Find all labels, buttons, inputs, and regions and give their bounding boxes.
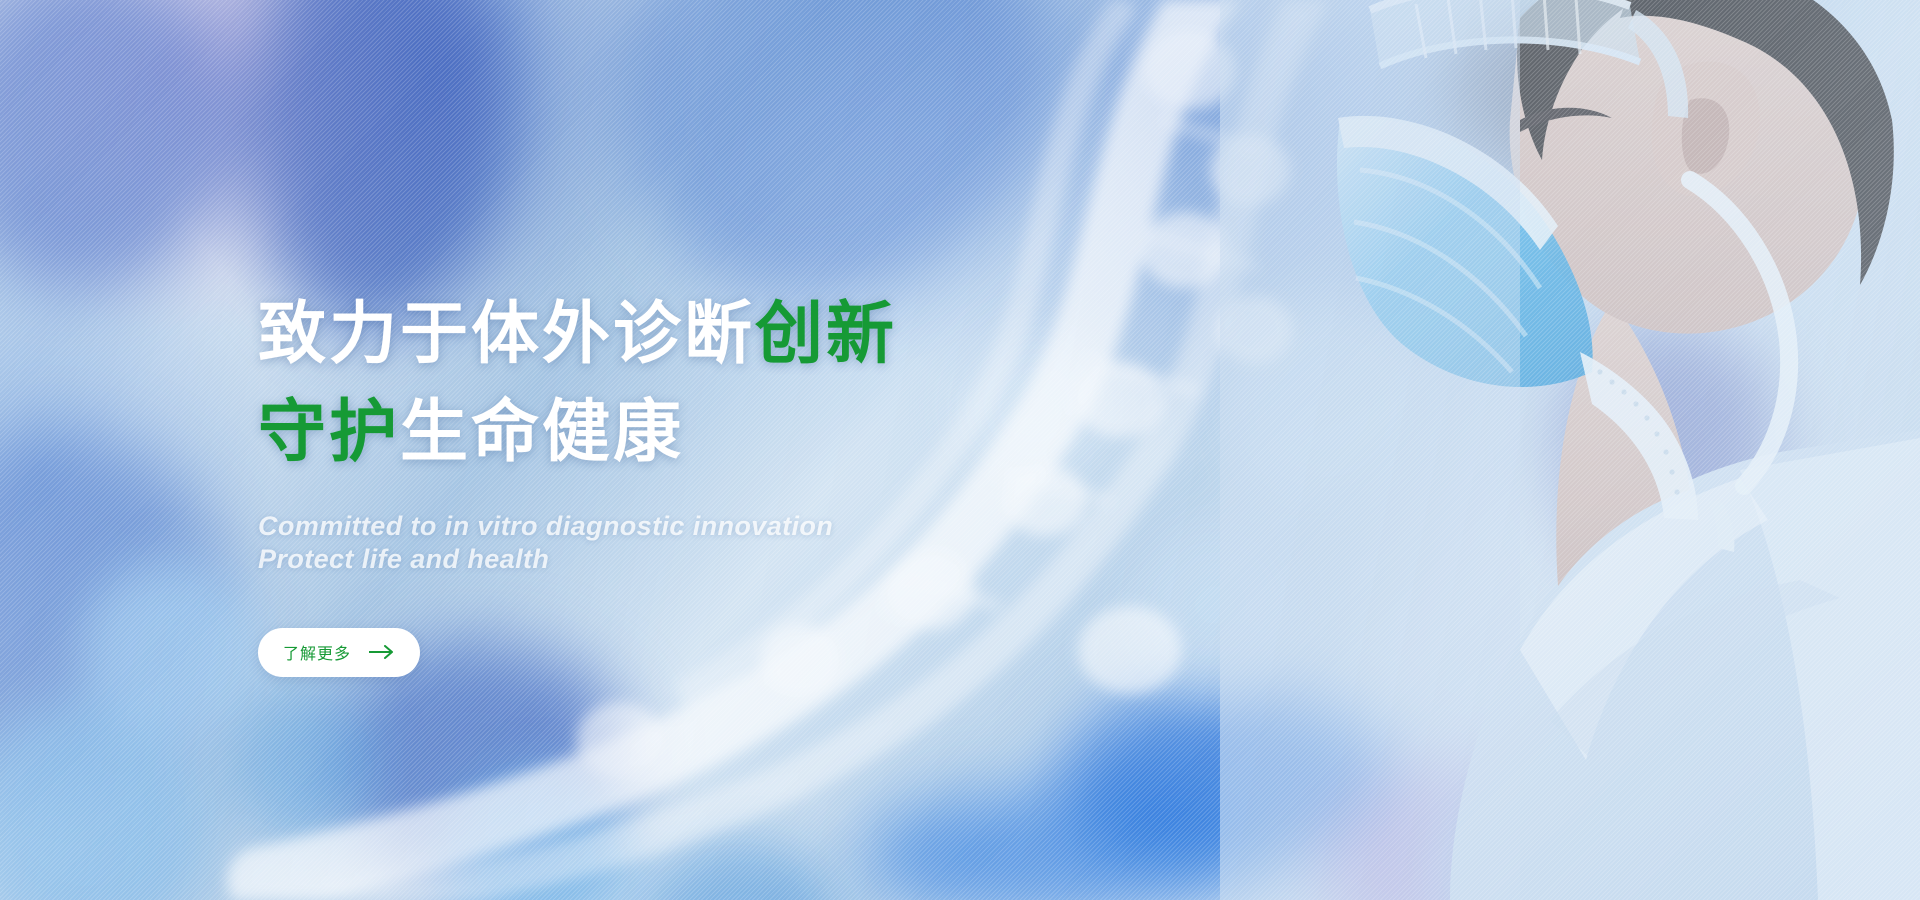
hero-banner: 致力于体外诊断创新 守护生命健康 Committed to in vitro d… xyxy=(0,0,1920,900)
headline-line-2: 守护生命健康 xyxy=(258,398,1258,466)
subtitle-line-1: Committed to in vitro diagnostic innovat… xyxy=(258,511,833,541)
headline-line-1: 致力于体外诊断创新 xyxy=(258,300,1258,368)
hero-subtitle: Committed to in vitro diagnostic innovat… xyxy=(258,510,1258,576)
headline-line-1-white: 致力于体外诊断 xyxy=(258,296,755,372)
arrow-right-icon xyxy=(369,645,395,659)
headline-line-1-accent: 创新 xyxy=(755,296,897,372)
hero-content: 致力于体外诊断创新 守护生命健康 Committed to in vitro d… xyxy=(258,300,1258,677)
headline-line-2-white: 生命健康 xyxy=(400,394,684,470)
headline-line-2-accent: 守护 xyxy=(258,394,400,470)
scientist-photo xyxy=(1220,0,1920,900)
subtitle-line-2: Protect life and health xyxy=(258,544,549,574)
learn-more-label: 了解更多 xyxy=(283,640,351,664)
learn-more-button[interactable]: 了解更多 xyxy=(258,628,420,677)
